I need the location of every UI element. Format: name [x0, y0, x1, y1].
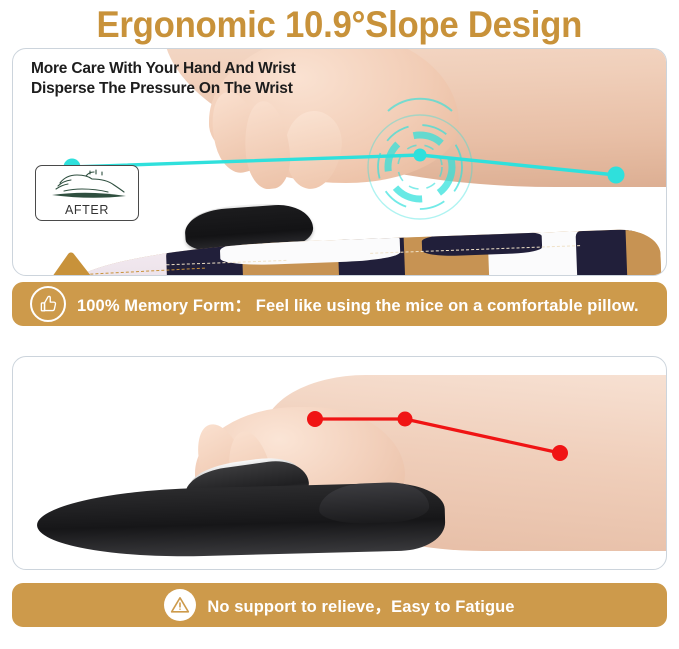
page-title-bar: Ergonomic 10.9°Slope Design: [0, 0, 679, 46]
memory-foam-banner-text: 100% Memory Form： Feel like using the mi…: [77, 292, 639, 316]
after-panel-heading: More Care With Your Hand And Wrist Dispe…: [31, 59, 296, 100]
heading-line-2: Disperse The Pressure On The Wrist: [31, 79, 296, 99]
hand-on-wrist-rest-icon: [36, 168, 140, 201]
fatigue-banner: No support to relieve，Easy to Fatigue: [12, 583, 667, 627]
fatigue-banner-text: No support to relieve，Easy to Fatigue: [207, 593, 514, 617]
before-photo: [13, 357, 666, 569]
after-badge-label: AFTER: [36, 203, 138, 217]
heading-line-1: More Care With Your Hand And Wrist: [31, 59, 296, 79]
memory-foam-banner: 100% Memory Form： Feel like using the mi…: [12, 282, 667, 326]
wrist-rest-image: [70, 228, 662, 275]
before-panel: BEFORE: [12, 356, 667, 570]
warning-triangle-icon: [164, 589, 196, 621]
page-title: Ergonomic 10.9°Slope Design: [97, 6, 583, 43]
thumbs-up-icon: [30, 286, 66, 322]
after-panel: 10.9° More Care With Your Hand And Wrist…: [12, 48, 667, 276]
after-badge: AFTER: [35, 165, 139, 221]
